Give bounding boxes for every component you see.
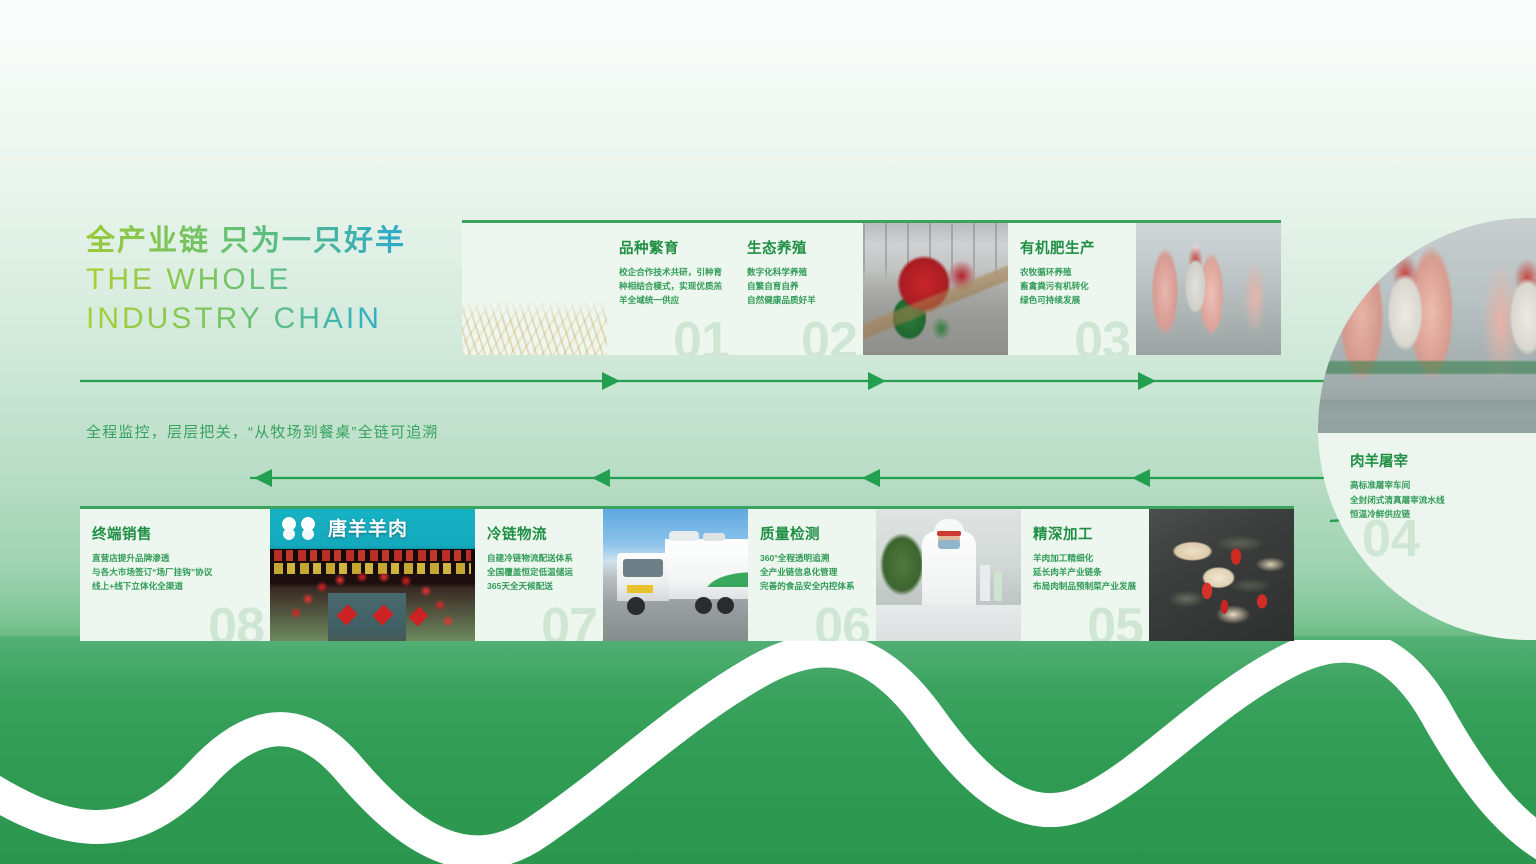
arrow-right-icon — [602, 372, 1156, 390]
stage-05-title: 精深加工 — [1033, 523, 1139, 544]
stage-card-02[interactable]: 生态养殖 数字化科学养殖自繁自育自养自然健康品质好羊 02 — [735, 220, 1008, 355]
process-row-top: 品种繁育 校企合作技术共研，引种育种相结合模式，实现优质羔羊全域统一供应 01 … — [462, 220, 1281, 355]
stage-08-title: 终端销售 — [92, 523, 260, 544]
stage-01-photo — [462, 223, 607, 355]
stage-04-number: 04 — [1362, 513, 1420, 565]
headline-block: 全产业链 只为一只好羊 THE WHOLE INDUSTRY CHAIN — [86, 222, 506, 338]
stage-02-number: 02 — [801, 315, 857, 355]
chili-garnish — [1149, 509, 1294, 641]
stage-03-photo — [1136, 223, 1281, 355]
stage-07-body: 冷链物流 自建冷链物流配送体系全国覆盖恒定低温储运365天全天候配送 07 — [475, 509, 603, 641]
stage-06-desc: 360°全程透明追溯全产业链信息化管理完善的食品安全内控体系 — [760, 551, 866, 594]
goggles-icon — [937, 531, 961, 536]
stage-01-title: 品种繁育 — [619, 237, 725, 258]
stage-01-number: 01 — [673, 315, 729, 355]
stage-03-body: 有机肥生产 农牧循环养殖畜禽粪污有机转化绿色可持续发展 03 — [1008, 223, 1136, 355]
stage-card-07[interactable]: 冷链物流 自建冷链物流配送体系全国覆盖恒定低温储运365天全天候配送 07 — [475, 506, 748, 641]
stage-06-body: 质量检测 360°全程透明追溯全产业链信息化管理完善的食品安全内控体系 06 — [748, 509, 876, 641]
decorative-wave — [0, 640, 1536, 864]
sheep-logo-icon — [278, 515, 324, 541]
headline-english-line1: THE WHOLE — [86, 261, 506, 299]
stage-08-body: 终端销售 直营店提升品牌渗透与各大市场签订“场厂挂钩”协议线上+线下立体化全渠道… — [80, 509, 270, 641]
stage-03-title: 有机肥生产 — [1020, 237, 1126, 258]
stage-card-08[interactable]: 终端销售 直营店提升品牌渗透与各大市场签订“场厂挂钩”协议线上+线下立体化全渠道… — [80, 506, 475, 641]
stage-04-photo — [1318, 218, 1536, 433]
stage-04-round-shape — [1318, 218, 1536, 640]
stage-08-number: 08 — [208, 601, 264, 641]
stage-06-title: 质量检测 — [760, 523, 866, 544]
stage-05-photo — [1149, 509, 1294, 641]
stage-card-01[interactable]: 品种繁育 校企合作技术共研，引种育种相结合模式，实现优质羔羊全域统一供应 01 — [462, 220, 735, 355]
headline-english-line2: INDUSTRY CHAIN — [86, 300, 506, 338]
stage-card-03[interactable]: 有机肥生产 农牧循环养殖畜禽粪污有机转化绿色可持续发展 03 — [1008, 220, 1281, 355]
stage-03-desc: 农牧循环养殖畜禽粪污有机转化绿色可持续发展 — [1020, 265, 1126, 308]
stage-05-number: 05 — [1087, 601, 1143, 641]
stage-01-body: 品种繁育 校企合作技术共研，引种育种相结合模式，实现优质羔羊全域统一供应 01 — [607, 223, 735, 355]
stage-03-number: 03 — [1074, 315, 1130, 355]
stage-08-desc: 直营店提升品牌渗透与各大市场签订“场厂挂钩”协议线上+线下立体化全渠道 — [92, 551, 260, 594]
stage-card-05[interactable]: 精深加工 羊肉加工精细化延长肉羊产业链条布局肉制品预制菜产业发展 05 — [1021, 506, 1294, 641]
stage-07-desc: 自建冷链物流配送体系全国覆盖恒定低温储运365天全天候配送 — [487, 551, 593, 594]
stage-05-desc: 羊肉加工精细化延长肉羊产业链条布局肉制品预制菜产业发展 — [1033, 551, 1139, 594]
truck-green-swoosh — [665, 557, 748, 587]
stage-card-06[interactable]: 质量检测 360°全程透明追溯全产业链信息化管理完善的食品安全内控体系 06 — [748, 506, 1021, 641]
stage-07-title: 冷链物流 — [487, 523, 593, 544]
face-mask-icon — [938, 540, 960, 549]
process-row-bottom: 终端销售 直营店提升品牌渗透与各大市场签订“场厂挂钩”协议线上+线下立体化全渠道… — [80, 506, 1294, 641]
license-plate — [627, 585, 653, 593]
led-banner-row — [274, 550, 471, 561]
stage-05-body: 精深加工 羊肉加工精细化延长肉羊产业链条布局肉制品预制菜产业发展 05 — [1021, 509, 1149, 641]
stage-02-body: 生态养殖 数字化科学养殖自繁自育自养自然健康品质好羊 02 — [735, 223, 863, 355]
stage-08-photo: 唐羊羊肉 — [270, 509, 475, 641]
headline-chinese: 全产业链 只为一只好羊 — [86, 222, 506, 261]
subline-text: 全程监控，层层把关，“从牧场到餐桌”全链可追溯 — [86, 421, 439, 442]
stage-02-photo — [863, 223, 1008, 355]
stage-06-number: 06 — [814, 601, 870, 641]
storefront-sign-text: 唐羊羊肉 — [328, 514, 408, 541]
arrow-left-icon — [254, 469, 1150, 487]
stage-06-photo — [876, 509, 1021, 641]
stage-07-photo — [603, 509, 748, 641]
stage-02-desc: 数字化科学养殖自繁自育自养自然健康品质好羊 — [747, 265, 853, 308]
stage-07-number: 07 — [541, 601, 597, 641]
stage-card-04[interactable]: 肉羊屠宰 高标准屠宰车间全封闭式清真屠宰流水线恒温冷鲜供应链 04 — [1318, 218, 1536, 640]
stage-01-desc: 校企合作技术共研，引种育种相结合模式，实现优质羔羊全域统一供应 — [619, 265, 725, 308]
stage-04-title: 肉羊屠宰 — [1350, 450, 1536, 471]
stage-02-title: 生态养殖 — [747, 237, 853, 258]
